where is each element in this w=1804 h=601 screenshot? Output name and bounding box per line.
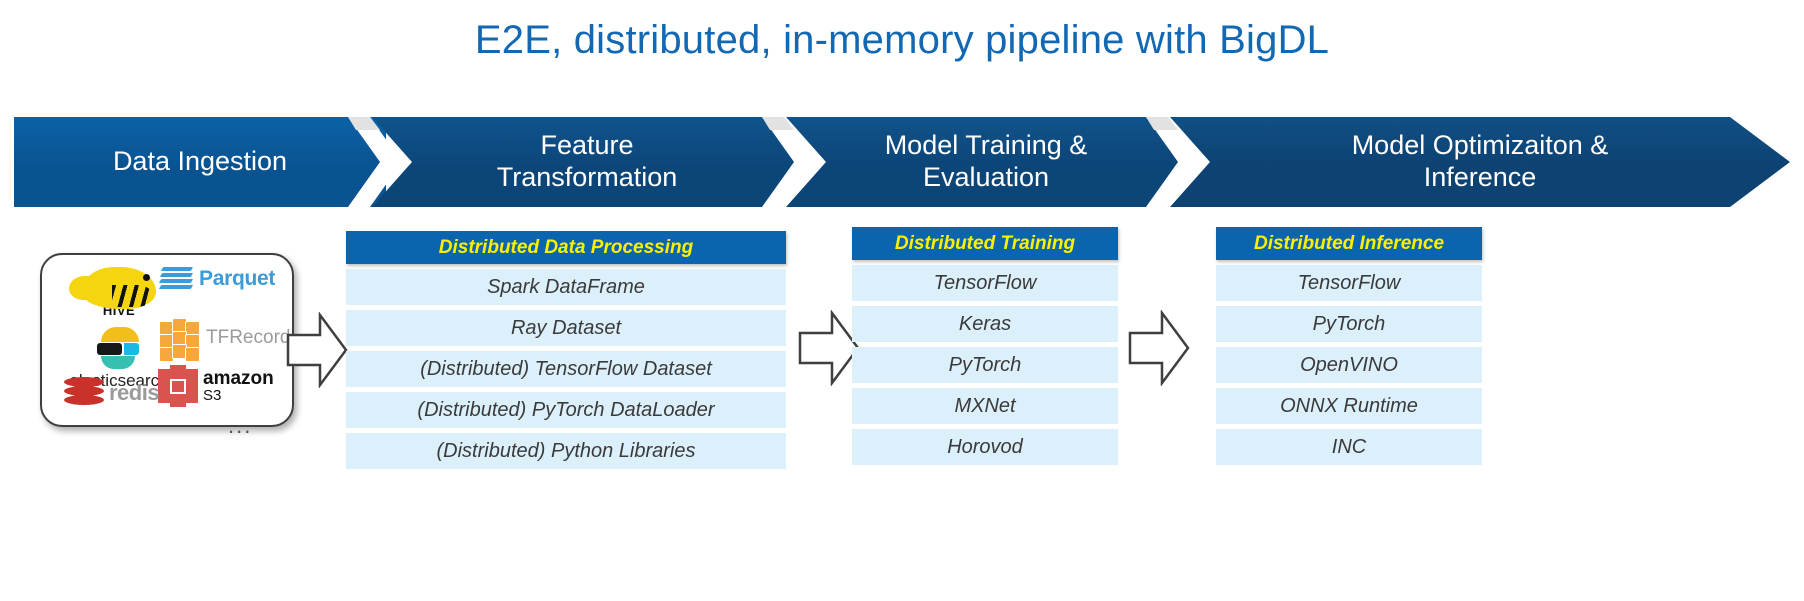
arrow-training-to-inference	[1128, 310, 1190, 391]
stage-label-line: Model Optimizaiton &	[1326, 130, 1635, 162]
table-row[interactable]: (Distributed) PyTorch DataLoader	[346, 392, 786, 428]
table-row[interactable]: TensorFlow	[852, 265, 1118, 301]
pipeline-stage-feature-transformation[interactable]: Feature Transformation	[372, 117, 802, 207]
table-row[interactable]: PyTorch	[852, 347, 1118, 383]
tfrecord-logo: TFRecord	[158, 317, 290, 359]
table-distributed-inference: Distributed Inference TensorFlow PyTorch…	[1216, 227, 1482, 465]
parquet-logo-label: Parquet	[199, 267, 275, 291]
tfrecord-mark-icon	[158, 317, 200, 359]
stage-label-line: Data Ingestion	[87, 146, 313, 178]
table-header: Distributed Data Processing	[346, 231, 786, 264]
amazon-s3-logo: amazon S3	[158, 365, 274, 407]
parquet-logo: Parquet	[160, 265, 275, 292]
pipeline-stage-model-optimization-inference[interactable]: Model Optimizaiton & Inference	[1170, 117, 1790, 207]
stage-label-line: Model Training &	[859, 130, 1114, 162]
redis-mark-icon	[64, 377, 104, 409]
amazon-s3-logo-label: amazon	[203, 369, 274, 388]
stage-label-line: Evaluation	[859, 162, 1114, 194]
stage-label-line: Feature	[471, 130, 704, 162]
table-row[interactable]: ONNX Runtime	[1216, 388, 1482, 424]
table-row[interactable]: Horovod	[852, 429, 1118, 465]
page-title: E2E, distributed, in-memory pipeline wit…	[0, 18, 1804, 63]
parquet-mark-icon	[160, 265, 194, 292]
redis-logo-label: redis	[109, 380, 159, 406]
more-sources-ellipsis: ...	[228, 413, 252, 439]
table-row[interactable]: PyTorch	[1216, 306, 1482, 342]
pipeline-banner: Data Ingestion Feature Transformation Mo…	[14, 117, 1790, 207]
table-row[interactable]: OpenVINO	[1216, 347, 1482, 383]
table-distributed-data-processing: Distributed Data Processing Spark DataFr…	[346, 231, 786, 469]
amazon-s3-logo-sublabel: S3	[203, 388, 274, 403]
stage-label-line: Transformation	[471, 162, 704, 194]
hive-logo: HIVE	[64, 263, 174, 321]
arrow-ingestion-to-processing	[286, 312, 348, 393]
table-row[interactable]: MXNet	[852, 388, 1118, 424]
table-row[interactable]: Spark DataFrame	[346, 269, 786, 305]
table-row[interactable]: Ray Dataset	[346, 310, 786, 346]
table-row[interactable]: (Distributed) TensorFlow Dataset	[346, 351, 786, 387]
table-distributed-training: Distributed Training TensorFlow Keras Py…	[852, 227, 1118, 465]
table-header: Distributed Inference	[1216, 227, 1482, 260]
table-row[interactable]: TensorFlow	[1216, 265, 1482, 301]
redis-logo: redis	[64, 377, 159, 409]
pipeline-stage-model-training-evaluation[interactable]: Model Training & Evaluation	[786, 117, 1186, 207]
stage-label-line: Inference	[1326, 162, 1635, 194]
data-sources-box: HIVE Parquet elasticsearch	[40, 253, 294, 427]
table-row[interactable]: (Distributed) Python Libraries	[346, 433, 786, 469]
table-header: Distributed Training	[852, 227, 1118, 260]
table-row[interactable]: INC	[1216, 429, 1482, 465]
pipeline-stage-data-ingestion[interactable]: Data Ingestion	[14, 117, 386, 207]
tfrecord-logo-label: TFRecord	[206, 327, 290, 349]
elasticsearch-mark-icon	[97, 325, 141, 369]
table-row[interactable]: Keras	[852, 306, 1118, 342]
arrow-processing-to-training	[798, 310, 860, 391]
amazon-s3-mark-icon	[158, 365, 198, 407]
